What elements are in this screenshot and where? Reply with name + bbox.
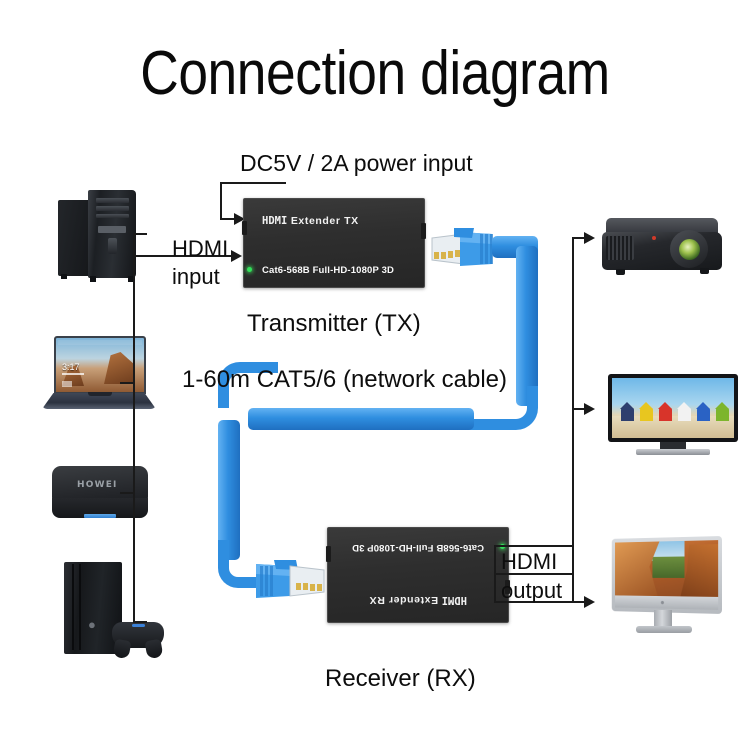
device-laptop: 3:17 — [40, 336, 158, 422]
receiver-model-word: Extender RX — [369, 594, 438, 606]
hdmi-output-label-line1: HDMI — [501, 549, 557, 575]
tower-side-panel — [58, 200, 92, 276]
tv-stand-base — [636, 449, 710, 455]
imac-stand-foot — [636, 626, 692, 633]
left-bracket-stub-console — [133, 621, 147, 623]
projector-foot — [700, 268, 709, 274]
connection-diagram-page: Connection diagram 3:17 HOWEI — [0, 0, 750, 750]
apple-logo-icon: ● — [660, 599, 667, 606]
left-bracket-stub-laptop — [120, 382, 134, 384]
controller-grip-right — [145, 639, 164, 660]
tower-front-panel — [88, 190, 136, 278]
power-line-vertical — [220, 182, 222, 220]
hdmi-input-label-line2: input — [172, 264, 220, 290]
receiver-device: Cat6-568B Full-HD-1080P 3D HDMI Extender… — [327, 527, 509, 623]
projector-arrow — [584, 232, 595, 244]
receiver-spec-label: Cat6-568B Full-HD-1080P 3D — [346, 542, 490, 553]
console-vent-slit — [79, 564, 81, 650]
receiver-brand-label: HDMI Extender RX — [346, 594, 490, 606]
rj45-rx-svg — [252, 556, 334, 604]
laptop-tile — [62, 381, 72, 387]
beach-hut — [621, 408, 634, 421]
left-bracket-stub-pc — [133, 233, 147, 235]
tower-drive-bay — [96, 206, 129, 211]
device-projector — [600, 212, 726, 288]
console-logo: ● — [88, 618, 101, 631]
transmitter-hdmi-word: HDMI — [262, 215, 287, 227]
laptop-clock: 3:17 — [62, 362, 80, 372]
transmitter-power-led — [247, 267, 252, 272]
page-title: Connection diagram — [53, 38, 698, 109]
beach-hut — [697, 408, 710, 421]
beach-hut-roof — [696, 402, 710, 409]
device-imac-monitor: ● — [592, 536, 732, 636]
cable-segment-left-vertical — [218, 420, 240, 560]
beach-hut-roof — [639, 402, 653, 409]
rj45-connector-tx — [424, 224, 502, 272]
rj45-connector-rx — [252, 556, 334, 604]
beach-hut — [716, 408, 729, 421]
right-bracket-vertical — [572, 237, 574, 601]
transmitter-caption: Transmitter (TX) — [247, 310, 421, 338]
tv-arrow — [584, 403, 595, 415]
beach-hut-roof — [658, 402, 672, 409]
console-vent-slit — [72, 564, 74, 650]
tower-logo-plate — [98, 226, 126, 233]
laptop-date-text — [62, 373, 84, 375]
projector-lens — [679, 239, 700, 260]
device-television — [608, 374, 738, 460]
imac-body: ● — [612, 536, 722, 614]
left-bracket-vertical — [133, 233, 135, 623]
tower-drive-bay — [96, 198, 129, 203]
tv-screen — [612, 378, 734, 438]
hdmi-output-line-top — [494, 545, 574, 547]
imac-wallpaper-valley — [652, 556, 684, 577]
controller-lightbar — [132, 624, 145, 627]
hdmi-input-label-line1: HDMI — [172, 236, 228, 262]
tower-drive-bay — [96, 214, 129, 218]
power-input-label: DC5V / 2A power input — [240, 150, 473, 177]
power-line-top — [220, 182, 286, 184]
beach-hut — [659, 408, 672, 421]
laptop-status-bar — [58, 340, 142, 345]
beach-hut-roof — [715, 402, 729, 409]
transmitter-brand-label: HDMI Extender TX — [262, 215, 359, 227]
beach-hut — [678, 408, 691, 421]
tv-box-led-strip — [84, 514, 116, 518]
transmitter-device: HDMI Extender TX Cat6-568B Full-HD-1080P… — [243, 198, 425, 288]
receiver-hdmi-word: HDMI — [442, 594, 467, 606]
laptop-hinge — [88, 392, 112, 396]
tower-foot — [90, 276, 96, 282]
transmitter-spec-label: Cat6-568B Full-HD-1080P 3D — [262, 265, 394, 276]
device-game-console: ● — [48, 560, 170, 660]
beach-hut-roof — [677, 402, 691, 409]
cable-segment-right-vertical — [516, 246, 538, 406]
beach-hut — [640, 408, 653, 421]
receiver-rj45-port — [326, 546, 331, 562]
tv-box-brand-logo: HOWEI — [77, 480, 118, 490]
controller-grip-left — [113, 639, 132, 660]
hdmi-output-label-line2: output — [501, 578, 562, 604]
hdmi-input-arrow — [231, 250, 242, 262]
projector-indicator-light — [652, 236, 656, 240]
left-bracket-stub-tvbox — [120, 492, 134, 494]
transmitter-hdmi-port — [242, 221, 247, 235]
tower-foot — [61, 274, 67, 279]
transmitter-model-word: Extender TX — [291, 215, 359, 227]
receiver-caption: Receiver (RX) — [325, 665, 476, 693]
hdmi-output-line-vertical — [494, 545, 496, 603]
device-tv-box: HOWEI — [46, 464, 154, 526]
cable-spec-label: 1-60m CAT5/6 (network cable) — [182, 366, 507, 394]
tower-power-button[interactable] — [108, 238, 117, 254]
imac-screen — [615, 540, 718, 597]
beach-hut-roof — [620, 402, 634, 409]
projector-vent — [606, 236, 634, 260]
rj45-tx-svg — [424, 224, 502, 272]
cable-segment-middle-horizontal — [248, 408, 474, 430]
projector-foot — [616, 269, 625, 275]
